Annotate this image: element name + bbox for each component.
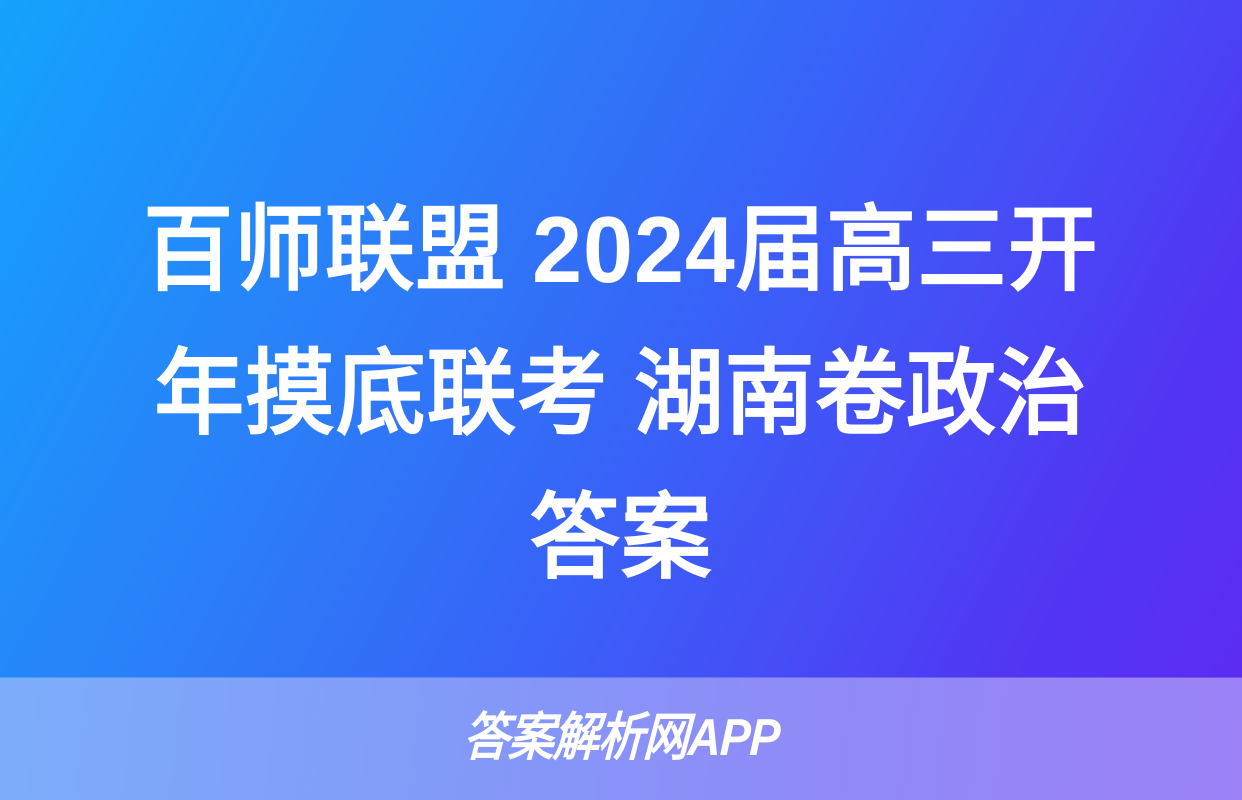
answer-poster: 百师联盟 2024届高三开 年摸底联考 湖南卷政治 答案 答案解析网APP: [0, 0, 1242, 800]
title-line-2: 年摸底联考 湖南卷政治: [99, 322, 1144, 466]
gradient-hero-panel: 百师联盟 2024届高三开 年摸底联考 湖南卷政治 答案: [0, 0, 1242, 678]
watermark-band: 答案解析网APP: [0, 678, 1242, 800]
watermark-label: 答案解析网APP: [462, 712, 780, 766]
title-line-3: 答案: [96, 466, 1146, 610]
title-line-1: 百师联盟 2024届高三开: [99, 178, 1144, 322]
page-title: 百师联盟 2024届高三开 年摸底联考 湖南卷政治 答案: [0, 178, 1242, 610]
